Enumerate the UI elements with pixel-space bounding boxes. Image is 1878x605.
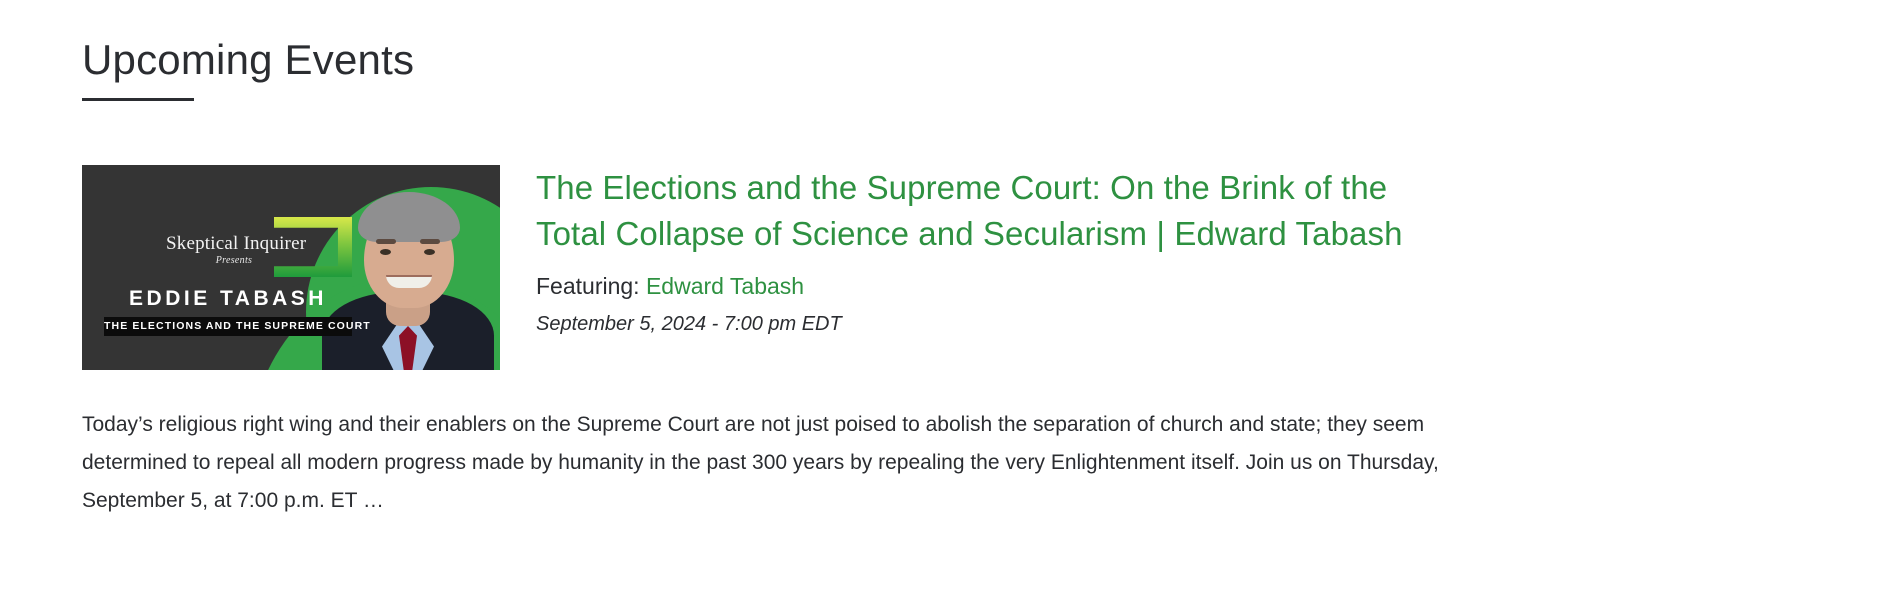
thumbnail-speaker-name: EDDIE TABASH bbox=[108, 287, 348, 311]
portrait-smile bbox=[386, 275, 432, 288]
event-featuring-line: Featuring: Edward Tabash bbox=[536, 271, 1798, 301]
event-datetime: September 5, 2024 - 7:00 pm EDT bbox=[536, 311, 1798, 337]
logo-title-text: Skeptical Inquirer bbox=[166, 233, 302, 254]
event-title-link[interactable]: The Elections and the Supreme Court: On … bbox=[536, 165, 1466, 257]
featuring-label: Featuring: bbox=[536, 273, 640, 299]
upcoming-events-page: Upcoming Events Skept bbox=[0, 0, 1878, 605]
featuring-speaker-link[interactable]: Edward Tabash bbox=[646, 273, 804, 299]
portrait-eye-right bbox=[424, 249, 435, 255]
portrait-eye-left bbox=[380, 249, 391, 255]
heading-underline-rule bbox=[82, 98, 194, 101]
portrait-hair-shape bbox=[358, 192, 460, 242]
event-details: The Elections and the Supreme Court: On … bbox=[500, 165, 1798, 337]
event-excerpt-text: Today’s religious right wing and their e… bbox=[82, 406, 1500, 520]
event-thumbnail[interactable]: Skeptical Inquirer Presents EDDIE TABASH… bbox=[82, 165, 500, 370]
thumbnail-subtitle-bar: THE ELECTIONS AND THE SUPREME COURT bbox=[104, 317, 352, 336]
event-list-item: Skeptical Inquirer Presents EDDIE TABASH… bbox=[82, 165, 1798, 370]
speaker-portrait-image bbox=[320, 188, 496, 370]
logo-subtitle-text: Presents bbox=[166, 255, 302, 267]
skeptical-inquirer-logo: Skeptical Inquirer Presents bbox=[166, 221, 338, 279]
portrait-eyebrow-right bbox=[420, 239, 440, 244]
portrait-eyebrow-left bbox=[376, 239, 396, 244]
page-title: Upcoming Events bbox=[82, 34, 414, 86]
section-heading-block: Upcoming Events bbox=[82, 34, 414, 101]
